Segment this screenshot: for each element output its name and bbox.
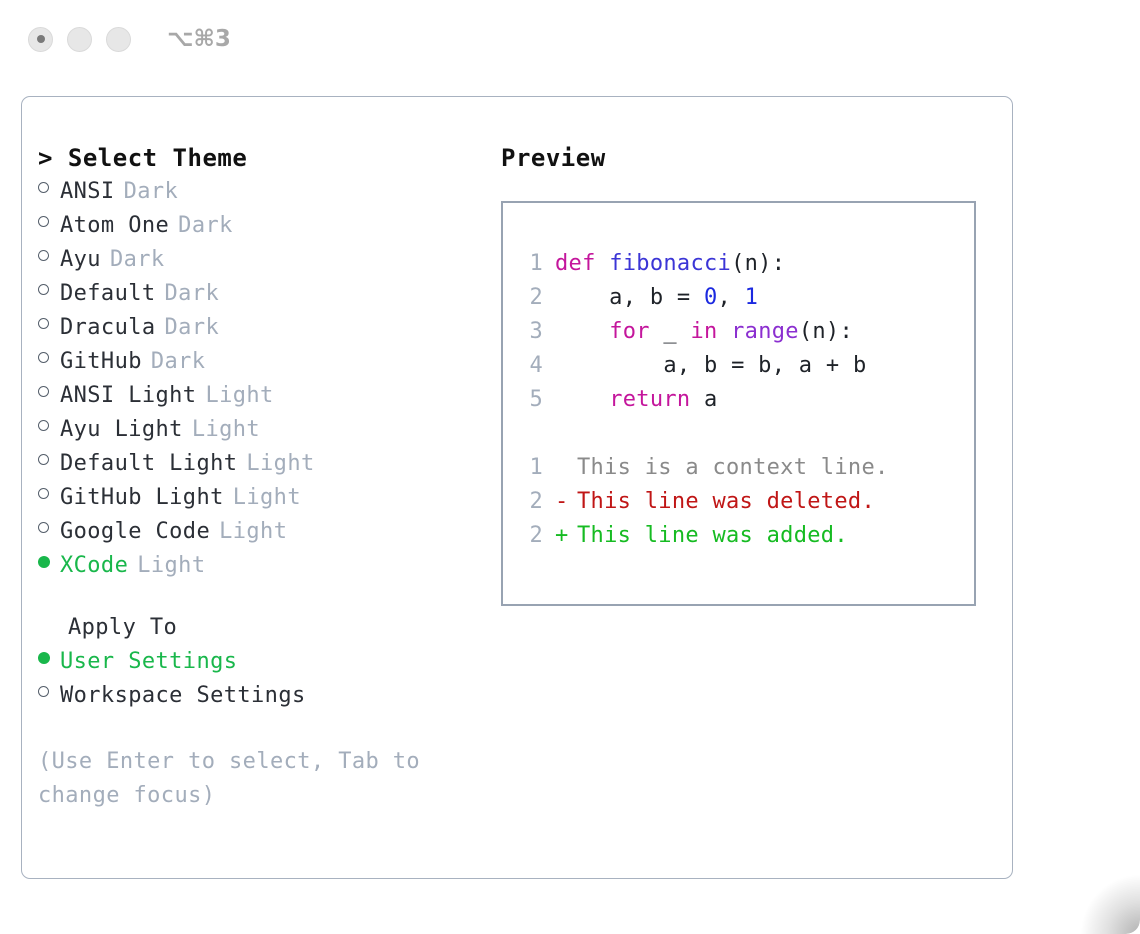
code-line: 1def fibonacci(n): — [517, 247, 974, 281]
code-token — [555, 319, 609, 344]
theme-option-tag: Dark — [151, 345, 206, 379]
theme-option-10[interactable]: Google CodeLight — [38, 515, 468, 549]
code-token: 1 — [745, 285, 759, 310]
code-line: 5 return a — [517, 383, 974, 417]
line-number: 2 — [517, 485, 543, 519]
code-preview-block: 1def fibonacci(n):2 a, b = 0, 13 for _ i… — [517, 247, 974, 417]
caret-icon: > — [38, 144, 53, 172]
diff-line-add: 2+This line was added. — [517, 519, 974, 553]
radio-glyph — [38, 652, 50, 664]
theme-option-label: GitHub — [60, 345, 142, 379]
radio-glyph — [38, 352, 49, 363]
code-token — [555, 387, 609, 412]
preview-heading: Preview — [501, 141, 991, 175]
theme-option-label: ANSI — [60, 175, 115, 209]
theme-option-6[interactable]: ANSI LightLight — [38, 379, 468, 413]
code-token: a — [690, 387, 717, 412]
theme-list: ANSIDarkAtom OneDarkAyuDarkDefaultDarkDr… — [38, 175, 468, 583]
theme-option-label: GitHub Light — [60, 481, 224, 515]
code-line: 4 a, b = b, a + b — [517, 349, 974, 383]
code-token: fibonacci — [609, 251, 731, 276]
code-token: def — [555, 251, 609, 276]
theme-option-2[interactable]: AyuDark — [38, 243, 468, 277]
code-token: for — [609, 319, 650, 344]
radio-glyph — [38, 318, 49, 329]
code-token: (n): — [799, 319, 853, 344]
theme-option-tag: Dark — [124, 175, 179, 209]
theme-option-label: Ayu — [60, 243, 101, 277]
theme-option-tag: Light — [137, 549, 205, 583]
window-maximize-button[interactable] — [106, 27, 131, 52]
code-token — [718, 319, 732, 344]
window-shadow — [1080, 874, 1140, 934]
code-token: a, b = — [555, 285, 704, 310]
theme-option-label: XCode — [60, 549, 128, 583]
radio-glyph — [38, 386, 49, 397]
line-number: 4 — [517, 349, 543, 383]
theme-selection-column: > Select Theme ANSIDarkAtom OneDarkAyuDa… — [38, 141, 468, 813]
theme-option-tag: Light — [233, 481, 301, 515]
diff-text: This line was deleted. — [577, 489, 875, 514]
theme-option-11[interactable]: XCodeLight — [38, 549, 468, 583]
diff-marker: - — [555, 485, 577, 519]
apply-option-1[interactable]: Workspace Settings — [38, 679, 468, 713]
line-number: 3 — [517, 315, 543, 349]
radio-glyph — [38, 284, 49, 295]
code-line: 2 a, b = 0, 1 — [517, 281, 974, 315]
line-number: 1 — [517, 247, 543, 281]
apply-option-0[interactable]: User Settings — [38, 645, 468, 679]
apply-option-label: Workspace Settings — [60, 679, 306, 713]
line-number: 5 — [517, 383, 543, 417]
keyboard-shortcut-label: ⌥⌘3 — [167, 26, 231, 52]
theme-option-label: Default Light — [60, 447, 237, 481]
theme-option-label: Google Code — [60, 515, 210, 549]
theme-option-5[interactable]: GitHubDark — [38, 345, 468, 379]
theme-option-8[interactable]: Default LightLight — [38, 447, 468, 481]
radio-glyph — [38, 556, 50, 568]
theme-option-label: Dracula — [60, 311, 156, 345]
code-token: a, b = b, a + b — [555, 353, 867, 378]
apply-to-list: User SettingsWorkspace Settings — [38, 645, 468, 713]
code-token: 0 — [704, 285, 718, 310]
radio-glyph — [38, 216, 49, 227]
diff-marker: + — [555, 519, 577, 553]
radio-glyph — [38, 488, 49, 499]
preview-box: 1def fibonacci(n):2 a, b = 0, 13 for _ i… — [501, 201, 976, 606]
app-window: ⌥⌘3 > Select Theme ANSIDarkAtom OneDarkA… — [0, 0, 1140, 934]
theme-option-9[interactable]: GitHub LightLight — [38, 481, 468, 515]
diff-marker — [555, 451, 577, 485]
main-panel: > Select Theme ANSIDarkAtom OneDarkAyuDa… — [21, 96, 1013, 879]
radio-glyph — [38, 686, 49, 697]
code-token: (n): — [731, 251, 785, 276]
diff-line-del: 2-This line was deleted. — [517, 485, 974, 519]
theme-option-1[interactable]: Atom OneDark — [38, 209, 468, 243]
radio-glyph — [38, 250, 49, 261]
theme-option-4[interactable]: DraculaDark — [38, 311, 468, 345]
theme-option-label: Atom One — [60, 209, 169, 243]
theme-option-3[interactable]: DefaultDark — [38, 277, 468, 311]
active-indicator-dot — [37, 35, 45, 43]
code-token: , — [718, 285, 745, 310]
code-token: range — [731, 319, 799, 344]
theme-option-tag: Dark — [165, 277, 220, 311]
diff-text: This line was added. — [577, 523, 848, 548]
theme-option-tag: Light — [219, 515, 287, 549]
keyboard-hint-text: (Use Enter to select, Tab to change focu… — [38, 745, 438, 813]
theme-option-tag: Dark — [178, 209, 233, 243]
radio-glyph — [38, 454, 49, 465]
theme-option-tag: Dark — [165, 311, 220, 345]
line-number: 2 — [517, 281, 543, 315]
code-token: return — [609, 387, 690, 412]
theme-option-0[interactable]: ANSIDark — [38, 175, 468, 209]
code-line: 3 for _ in range(n): — [517, 315, 974, 349]
line-number: 2 — [517, 519, 543, 553]
diff-line-ctx: 1 This is a context line. — [517, 451, 974, 485]
select-theme-heading-text: Select Theme — [68, 144, 247, 172]
theme-option-7[interactable]: Ayu LightLight — [38, 413, 468, 447]
theme-option-label: Ayu Light — [60, 413, 183, 447]
code-diff-separator — [517, 417, 974, 451]
theme-option-label: Default — [60, 277, 156, 311]
apply-option-label: User Settings — [60, 645, 237, 679]
window-minimize-button[interactable] — [67, 27, 92, 52]
window-close-button[interactable] — [28, 27, 53, 52]
code-token: in — [690, 319, 717, 344]
theme-option-tag: Light — [192, 413, 260, 447]
preview-column: Preview 1def fibonacci(n):2 a, b = 0, 13… — [501, 141, 991, 606]
theme-option-tag: Light — [205, 379, 273, 413]
theme-option-label: ANSI Light — [60, 379, 196, 413]
radio-glyph — [38, 420, 49, 431]
radio-glyph — [38, 182, 49, 193]
radio-glyph — [38, 522, 49, 533]
diff-preview-block: 1 This is a context line.2-This line was… — [517, 451, 974, 553]
line-number: 1 — [517, 451, 543, 485]
window-titlebar: ⌥⌘3 — [0, 0, 1140, 78]
theme-option-tag: Light — [246, 447, 314, 481]
theme-option-tag: Dark — [110, 243, 165, 277]
code-token: _ — [650, 319, 691, 344]
traffic-light-group — [28, 27, 131, 52]
apply-to-heading: Apply To — [38, 611, 468, 645]
diff-text: This is a context line. — [577, 455, 889, 480]
select-theme-heading: > Select Theme — [38, 141, 468, 175]
